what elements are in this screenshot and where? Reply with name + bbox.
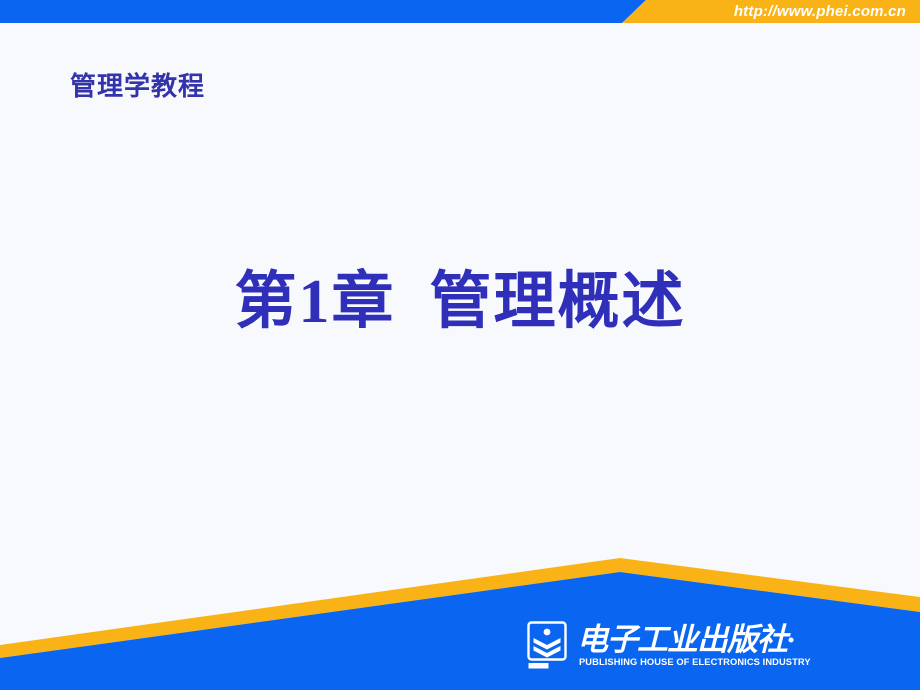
publisher-name-cn-shape: 电子工业出版社· xyxy=(577,619,802,659)
slide-canvas: http://www.phei.com.cn 管理学教程 第1章管理概述 xyxy=(0,0,920,690)
page-title: 第1章管理概述 xyxy=(0,250,920,340)
book-pages-icon-shape xyxy=(527,621,571,671)
title-main: 管理概述 xyxy=(430,268,686,336)
publisher-url[interactable]: http://www.phei.com.cn xyxy=(734,0,906,23)
publisher-logo: 电子工业出版社· PUBLISHING HOUSE OF ELECTRONICS… xyxy=(527,619,802,677)
course-label: 管理学教程 xyxy=(70,66,205,103)
title-unit: 章 xyxy=(331,268,395,336)
book-pages-icon xyxy=(527,621,571,671)
publisher-name-en: PUBLISHING HOUSE OF ELECTRONICS INDUSTRY xyxy=(579,657,811,668)
svg-text:电子工业出版社·: 电子工业出版社· xyxy=(577,622,794,657)
title-prefix: 第 xyxy=(234,268,298,336)
banner-blue-shape xyxy=(0,0,646,23)
publisher-name-cn: 电子工业出版社· xyxy=(577,619,802,659)
chapter-number: 1 xyxy=(298,268,331,336)
